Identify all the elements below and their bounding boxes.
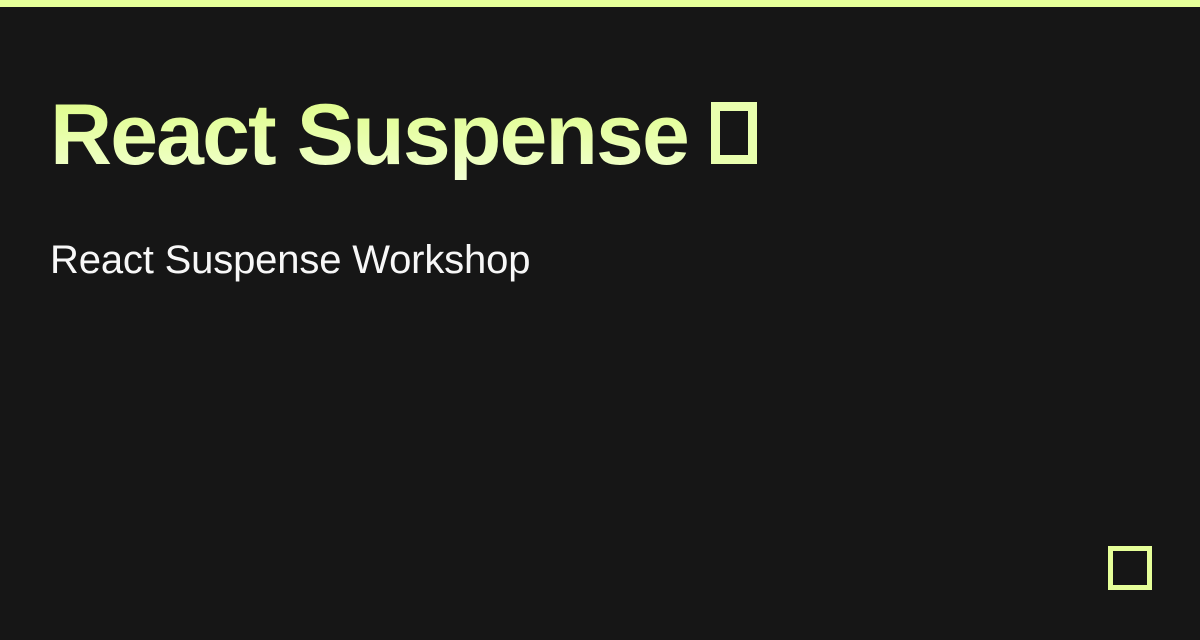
missing-glyph-tofu-icon <box>711 102 757 164</box>
corner-missing-glyph-tofu-icon <box>1108 546 1152 590</box>
card-content: React Suspense React Suspense Workshop <box>50 92 1150 284</box>
open-graph-card: React Suspense React Suspense Workshop <box>0 0 1200 640</box>
top-accent-bar <box>0 0 1200 7</box>
title-row: React Suspense <box>50 92 1150 180</box>
page-subtitle: React Suspense Workshop <box>50 180 1150 284</box>
page-title: React Suspense <box>50 92 688 180</box>
